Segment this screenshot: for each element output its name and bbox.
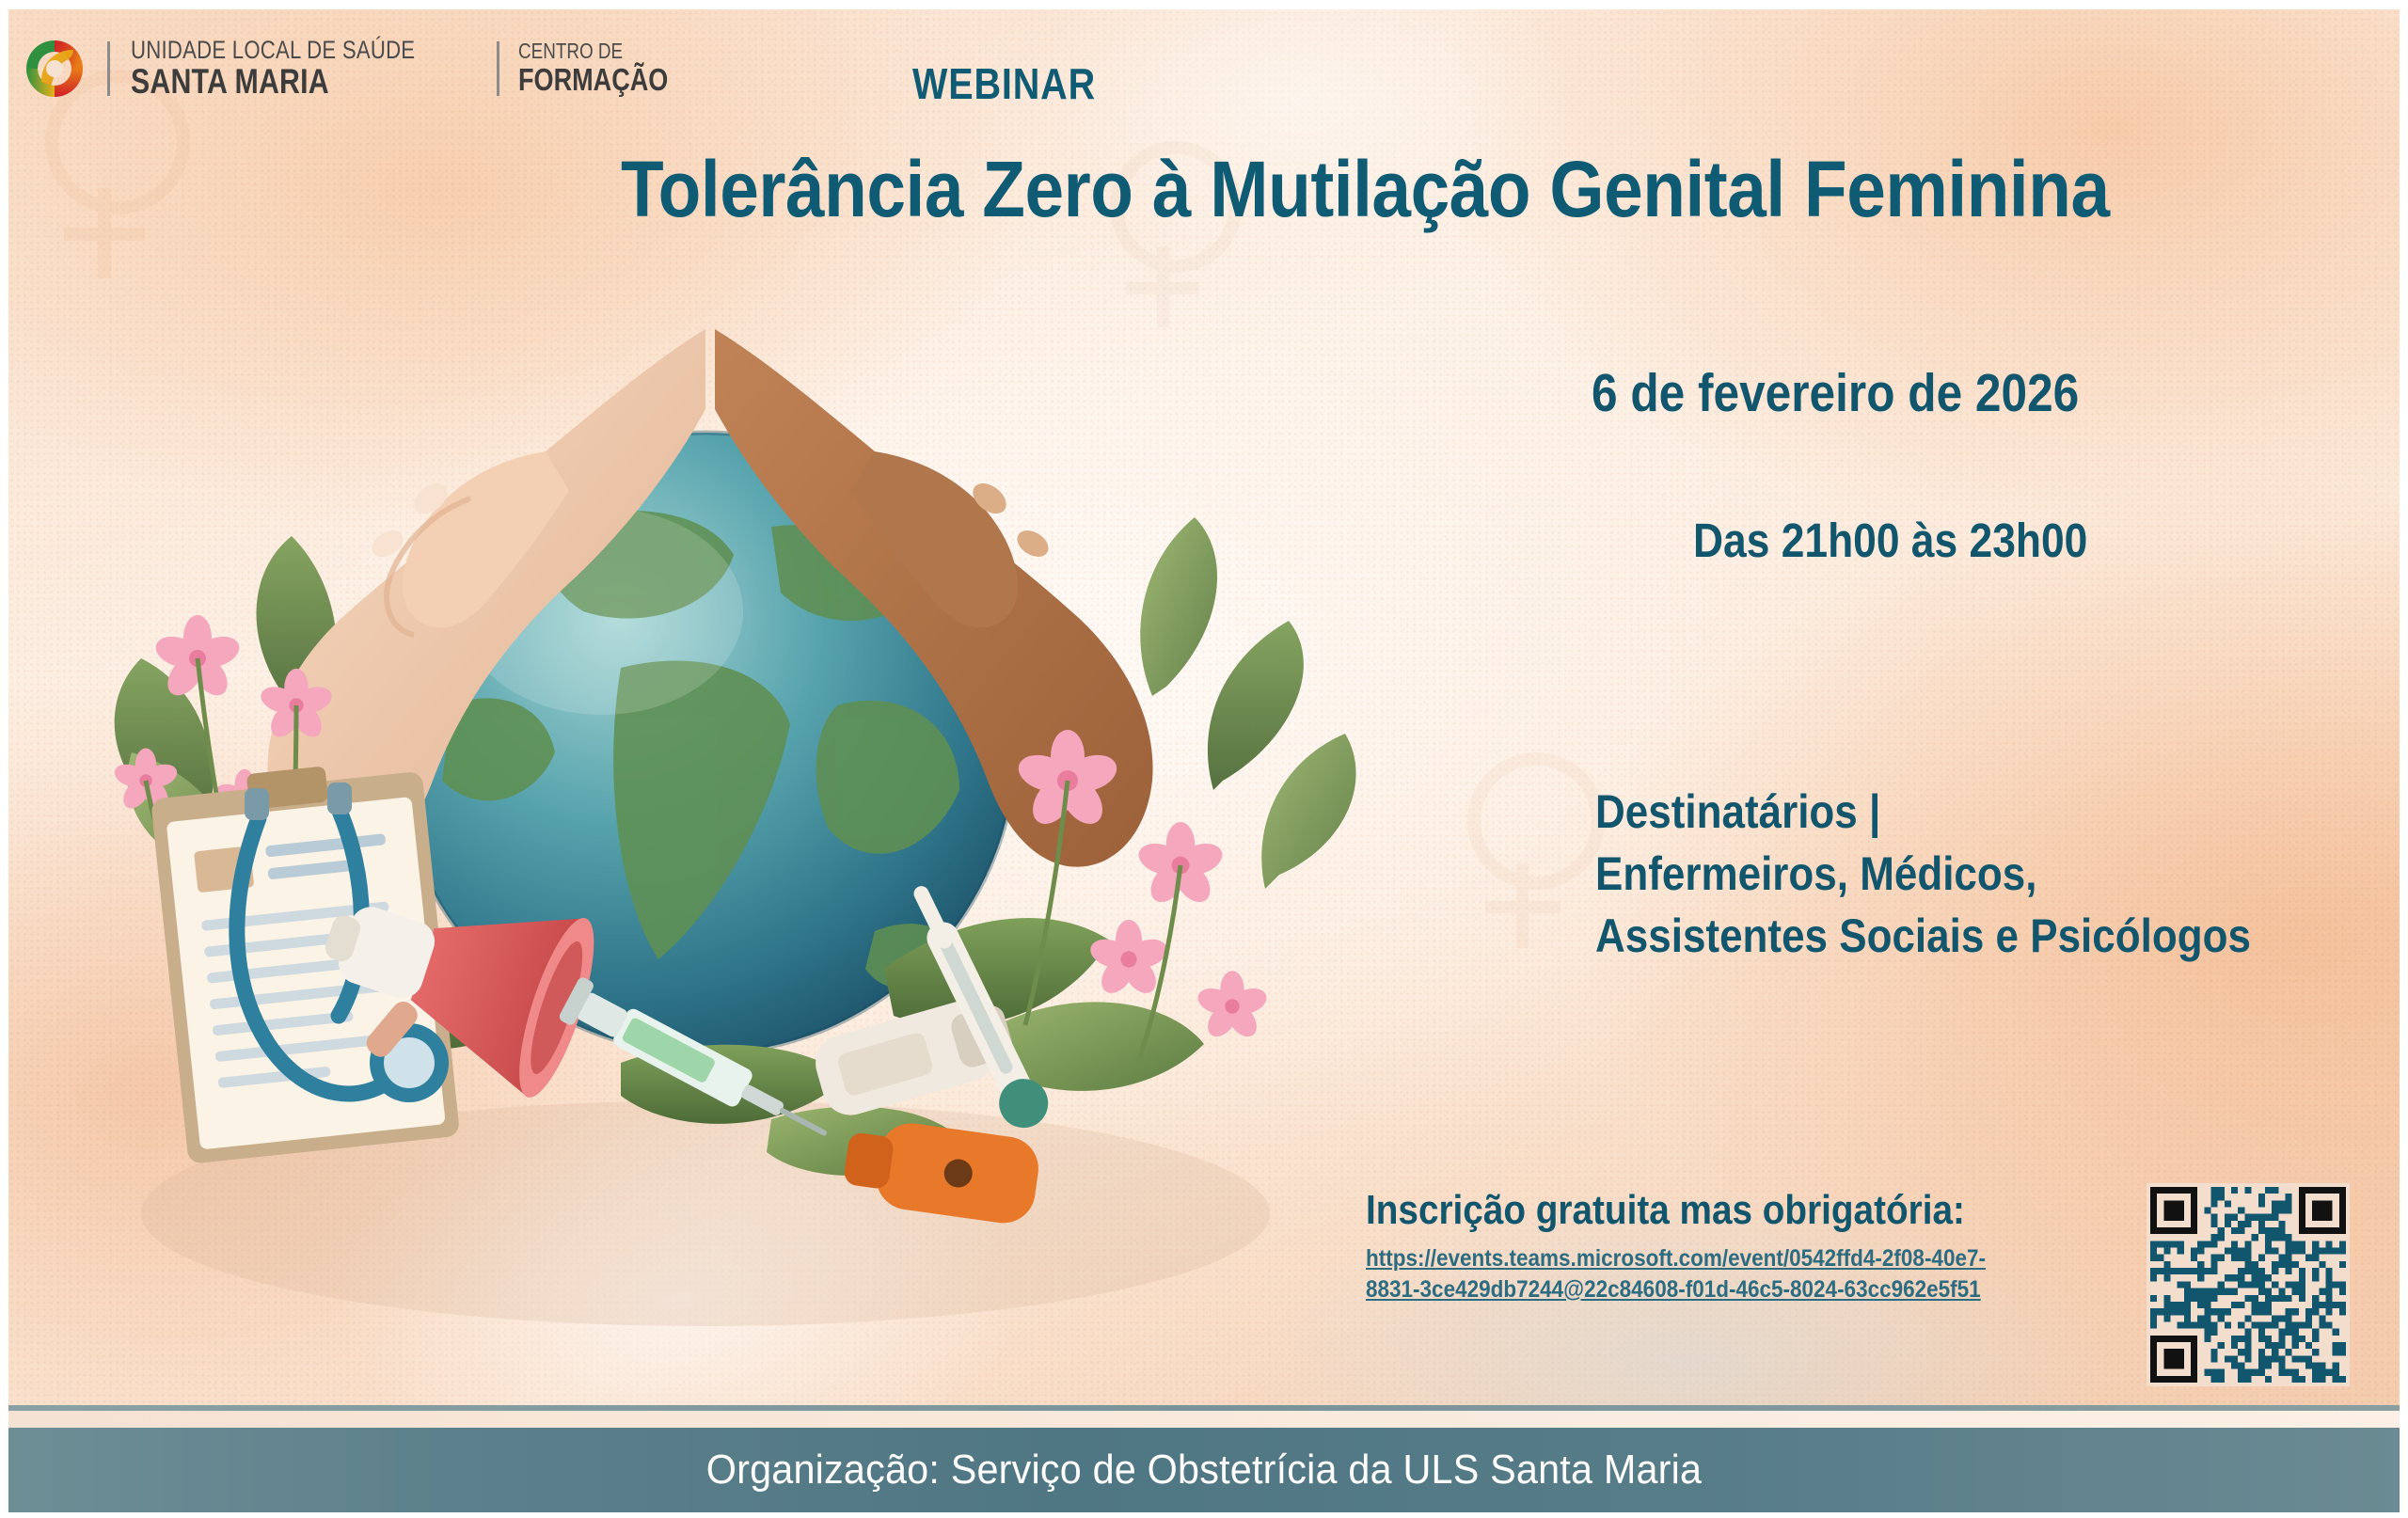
frame-edge [0, 0, 8, 1518]
audience-line-3: Assistentes Sociais e Psicólogos [1595, 905, 2251, 967]
target-audience: Destinatários | Enfermeiros, Médicos, As… [1595, 781, 2251, 967]
poster-canvas: UNIDADE LOCAL DE SAÚDE SANTA MARIA CENTR… [0, 0, 2408, 1518]
audience-line-1: Destinatários | [1595, 781, 2251, 843]
unit-name-block: CENTRO DE FORMAÇÃO [518, 40, 701, 96]
footer-organizer: Organização: Serviço de Obstetrícia da U… [80, 1428, 2327, 1512]
logo-divider [107, 41, 110, 96]
unit-line1: CENTRO DE [518, 40, 668, 64]
uls-circular-ribbon-logo-icon [23, 37, 87, 101]
unit-line2: FORMAÇÃO [518, 64, 668, 97]
event-date: 6 de fevereiro de 2026 [1592, 362, 2079, 424]
event-time: Das 21h00 às 23h00 [1693, 513, 2087, 568]
footer-band: Organização: Serviço de Obstetrícia da U… [8, 1428, 2400, 1512]
registration-link[interactable]: https://events.teams.microsoft.com/event… [1366, 1243, 1986, 1305]
registration-url-line-2: 8831-3ce429db7244@22c84608-f01d-46c5-802… [1366, 1274, 1986, 1305]
illustration-hands-globe [56, 216, 1430, 1383]
org-line2: SANTA MARIA [131, 64, 415, 101]
registration-heading: Inscrição gratuita mas obrigatória: [1366, 1187, 1972, 1234]
registration-block: Inscrição gratuita mas obrigatória: http… [1366, 1187, 2054, 1305]
logo-divider [497, 41, 499, 96]
org-line1: UNIDADE LOCAL DE SAÚDE [131, 36, 415, 64]
org-name-block: UNIDADE LOCAL DE SAÚDE SANTA MARIA [131, 36, 478, 101]
frame-edge [0, 0, 2408, 9]
registration-url-line-1: https://events.teams.microsoft.com/event… [1366, 1243, 1986, 1274]
frame-edge [2400, 0, 2408, 1518]
brand-logo: UNIDADE LOCAL DE SAÚDE SANTA MARIA CENTR… [23, 36, 701, 101]
qr-code-icon[interactable] [2147, 1183, 2350, 1386]
audience-line-2: Enfermeiros, Médicos, [1595, 843, 2251, 905]
kicker-webinar: WEBINAR [912, 58, 1096, 109]
frame-edge [0, 1512, 2408, 1518]
page-title: Tolerância Zero à Mutilação Genital Femi… [621, 149, 2194, 230]
